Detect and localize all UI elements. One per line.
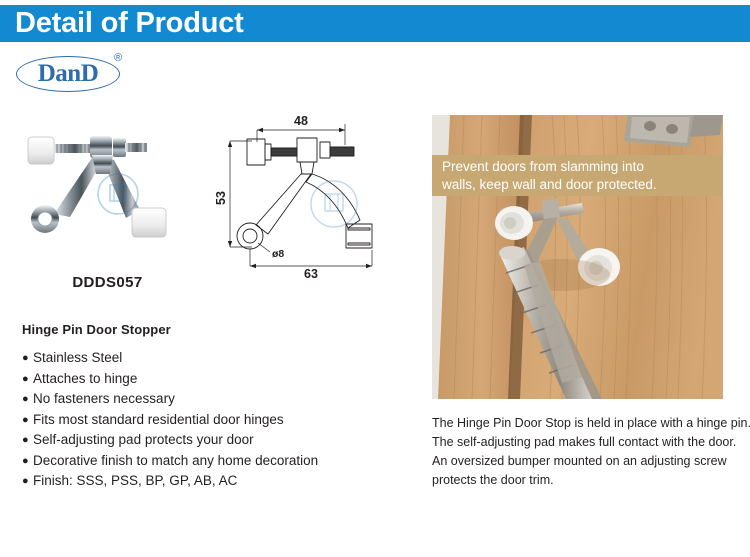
- bullet-icon: ●: [22, 411, 33, 431]
- spec-item-label: Decorative finish to match any home deco…: [33, 453, 318, 468]
- spec-item: ●Decorative finish to match any home dec…: [22, 451, 372, 472]
- product-photo-image: [20, 122, 195, 262]
- description-line: protects the door trim.: [432, 471, 732, 490]
- spec-item-label: Fits most standard residential door hing…: [33, 412, 284, 427]
- technical-drawing-image: 48 53 63 ø8: [212, 112, 412, 282]
- brand-logo: DanD ®: [16, 52, 136, 94]
- spec-item: ●Stainless Steel: [22, 348, 372, 369]
- spec-item-label: Finish: SSS, PSS, BP, GP, AB, AC: [33, 473, 237, 488]
- description-line: The self-adjusting pad makes full contac…: [432, 433, 732, 452]
- product-model-label: DDDS057: [20, 274, 195, 291]
- bullet-icon: ●: [22, 390, 33, 410]
- photo-caption-line: Prevent doors from slamming into: [442, 158, 713, 176]
- spec-heading: Hinge Pin Door Stopper: [22, 322, 171, 337]
- spec-item: ●Self-adjusting pad protects your door: [22, 430, 372, 451]
- dimension-label-diameter: ø8: [272, 248, 284, 260]
- bullet-icon: ●: [22, 431, 33, 451]
- photo-caption-banner: Prevent doors from slamming into walls, …: [432, 155, 723, 196]
- registered-trademark-icon: ®: [114, 52, 122, 64]
- photo-description: The Hinge Pin Door Stop is held in place…: [432, 414, 732, 490]
- dimension-label-bottom: 63: [304, 267, 318, 281]
- spec-item: ●No fasteners necessary: [22, 389, 372, 410]
- bullet-icon: ●: [22, 452, 33, 472]
- photo-caption-line: walls, keep wall and door protected.: [442, 176, 713, 194]
- spec-item-label: Self-adjusting pad protects your door: [33, 432, 254, 447]
- spec-item: ●Attaches to hinge: [22, 369, 372, 390]
- product-photo: [20, 122, 195, 262]
- spec-item-label: Attaches to hinge: [33, 371, 137, 386]
- logo-text: DanD: [16, 56, 120, 92]
- description-line: The Hinge Pin Door Stop is held in place…: [432, 414, 732, 433]
- spec-list: ●Stainless Steel ●Attaches to hinge ●No …: [22, 348, 372, 492]
- description-line: An oversized bumper mounted on an adjust…: [432, 452, 732, 471]
- page-title: Detail of Product: [15, 6, 244, 41]
- bullet-icon: ●: [22, 472, 33, 492]
- dimension-label-left: 53: [214, 191, 228, 205]
- spec-item-label: No fasteners necessary: [33, 391, 175, 406]
- bullet-icon: ●: [22, 370, 33, 390]
- bullet-icon: ●: [22, 349, 33, 369]
- dimension-label-top: 48: [294, 114, 308, 128]
- technical-drawing: 48 53 63 ø8: [212, 112, 412, 282]
- spec-item: ●Fits most standard residential door hin…: [22, 410, 372, 431]
- spec-item-label: Stainless Steel: [33, 350, 122, 365]
- spec-item: ●Finish: SSS, PSS, BP, GP, AB, AC: [22, 471, 372, 492]
- page-header-banner: Detail of Product: [0, 5, 750, 42]
